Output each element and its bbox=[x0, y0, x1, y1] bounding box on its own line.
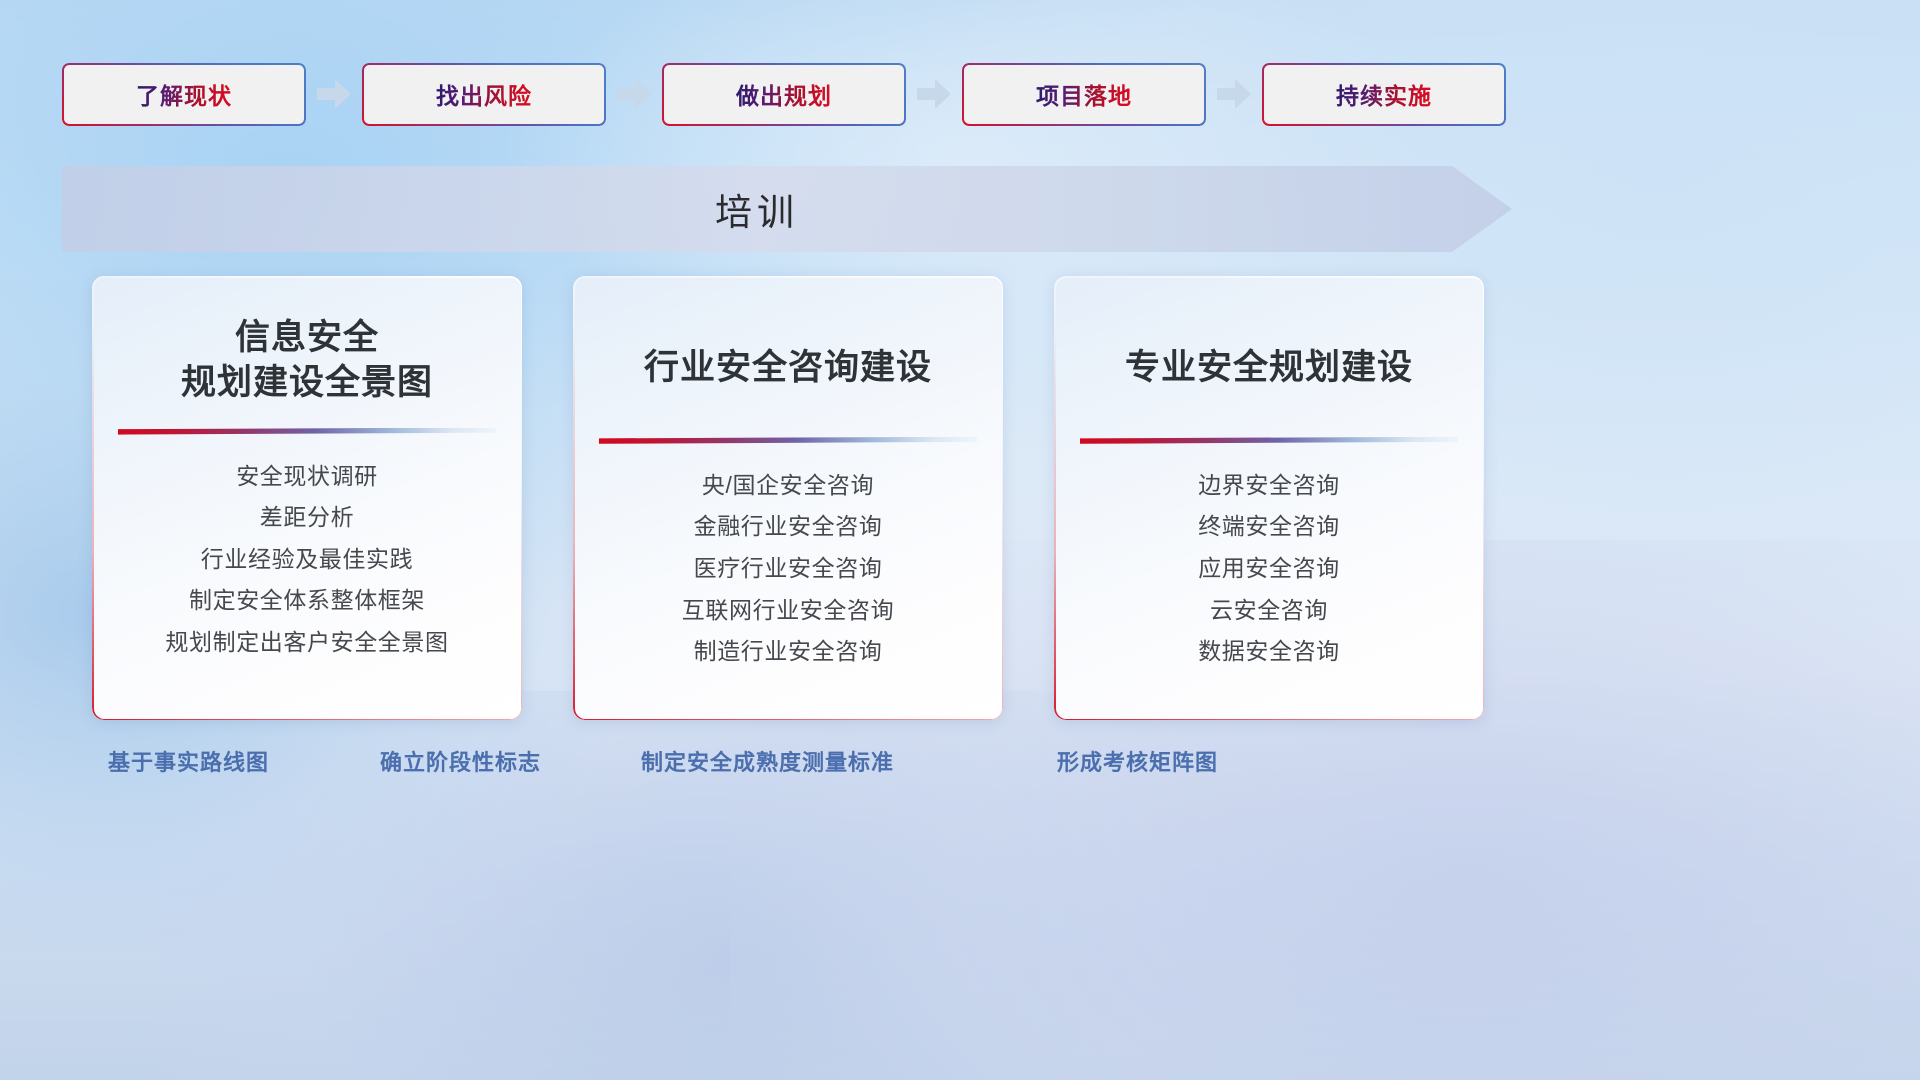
card-list-item[interactable]: 安全现状调研 bbox=[236, 463, 378, 491]
service-cards-row: 信息安全 规划建设全景图安全现状调研差距分析行业经验及最佳实践制定安全体系整体框… bbox=[92, 276, 1484, 720]
card-list-item[interactable]: 金融行业安全咨询 bbox=[694, 513, 883, 541]
footer-labels-row: 基于事实路线图确立阶段性标志制定安全成熟度测量标准形成考核矩阵图 bbox=[0, 745, 1920, 795]
card-list-item[interactable]: 规划制定出客户安全全景图 bbox=[165, 629, 448, 657]
step-box-1[interactable]: 了解现状 bbox=[62, 63, 306, 126]
footer-label-1: 基于事实路线图 bbox=[108, 745, 269, 777]
footer-label-2: 确立阶段性标志 bbox=[380, 745, 541, 777]
banner-label: 培训 bbox=[62, 166, 1452, 252]
card-inner: 专业安全规划建设边界安全咨询终端安全咨询应用安全咨询云安全咨询数据安全咨询 bbox=[1054, 276, 1484, 720]
step-box-2[interactable]: 找出风险 bbox=[362, 63, 606, 126]
card-list-item[interactable]: 制定安全体系整体框架 bbox=[189, 587, 425, 615]
chevron-right-block-icon bbox=[317, 79, 351, 109]
chevron-right-block-icon bbox=[1217, 79, 1251, 109]
card-inner: 行业安全咨询建设央/国企安全咨询金融行业安全咨询医疗行业安全咨询互联网行业安全咨… bbox=[573, 276, 1003, 720]
step-box-3[interactable]: 做出规划 bbox=[662, 63, 906, 126]
card-list-item[interactable]: 云安全咨询 bbox=[1210, 597, 1328, 625]
card-list-item[interactable]: 差距分析 bbox=[260, 504, 354, 532]
card-list-item[interactable]: 行业经验及最佳实践 bbox=[201, 546, 413, 574]
card-list: 央/国企安全咨询金融行业安全咨询医疗行业安全咨询互联网行业安全咨询制造行业安全咨… bbox=[599, 472, 977, 666]
slide-canvas: 了解现状找出风险做出规划项目落地持续实施 培训 信息安全 规划建设全景图安全现状… bbox=[0, 0, 1920, 1080]
card-list-item[interactable]: 互联网行业安全咨询 bbox=[682, 597, 894, 625]
service-card-2[interactable]: 行业安全咨询建设央/国企安全咨询金融行业安全咨询医疗行业安全咨询互联网行业安全咨… bbox=[573, 276, 1003, 720]
card-divider bbox=[1080, 437, 1458, 444]
card-list-item[interactable]: 央/国企安全咨询 bbox=[702, 472, 874, 500]
card-title: 行业安全咨询建设 bbox=[599, 346, 977, 391]
process-steps-row: 了解现状找出风险做出规划项目落地持续实施 bbox=[62, 62, 1510, 126]
chevron-right-block-icon bbox=[917, 79, 951, 109]
footer-label-3: 制定安全成熟度测量标准 bbox=[641, 745, 894, 777]
card-list-item[interactable]: 终端安全咨询 bbox=[1198, 513, 1340, 541]
footer-label-4: 形成考核矩阵图 bbox=[1057, 745, 1218, 777]
card-list-item[interactable]: 制造行业安全咨询 bbox=[694, 638, 883, 666]
step-label: 找出风险 bbox=[436, 77, 532, 111]
card-list-item[interactable]: 数据安全咨询 bbox=[1198, 638, 1340, 666]
step-label: 了解现状 bbox=[136, 77, 232, 111]
step-box-4[interactable]: 项目落地 bbox=[962, 63, 1206, 126]
step-arrow-4 bbox=[1206, 62, 1262, 126]
step-label: 做出规划 bbox=[736, 77, 832, 111]
step-box-5[interactable]: 持续实施 bbox=[1262, 63, 1506, 126]
card-divider bbox=[118, 428, 496, 435]
card-divider bbox=[599, 437, 977, 444]
card-list-item[interactable]: 医疗行业安全咨询 bbox=[694, 555, 883, 583]
step-label: 项目落地 bbox=[1036, 77, 1132, 111]
chevron-right-block-icon bbox=[617, 79, 651, 109]
card-list: 安全现状调研差距分析行业经验及最佳实践制定安全体系整体框架规划制定出客户安全全景… bbox=[118, 463, 496, 657]
service-card-3[interactable]: 专业安全规划建设边界安全咨询终端安全咨询应用安全咨询云安全咨询数据安全咨询 bbox=[1054, 276, 1484, 720]
step-arrow-1 bbox=[306, 62, 362, 126]
card-title: 信息安全 规划建设全景图 bbox=[118, 316, 496, 406]
card-list: 边界安全咨询终端安全咨询应用安全咨询云安全咨询数据安全咨询 bbox=[1080, 472, 1458, 666]
step-label: 持续实施 bbox=[1336, 77, 1432, 111]
training-banner: 培训 bbox=[62, 166, 1512, 252]
step-arrow-3 bbox=[906, 62, 962, 126]
card-list-item[interactable]: 边界安全咨询 bbox=[1198, 472, 1340, 500]
card-title: 专业安全规划建设 bbox=[1080, 346, 1458, 391]
step-arrow-2 bbox=[606, 62, 662, 126]
card-inner: 信息安全 规划建设全景图安全现状调研差距分析行业经验及最佳实践制定安全体系整体框… bbox=[92, 276, 522, 720]
card-list-item[interactable]: 应用安全咨询 bbox=[1198, 555, 1340, 583]
service-card-1[interactable]: 信息安全 规划建设全景图安全现状调研差距分析行业经验及最佳实践制定安全体系整体框… bbox=[92, 276, 522, 720]
